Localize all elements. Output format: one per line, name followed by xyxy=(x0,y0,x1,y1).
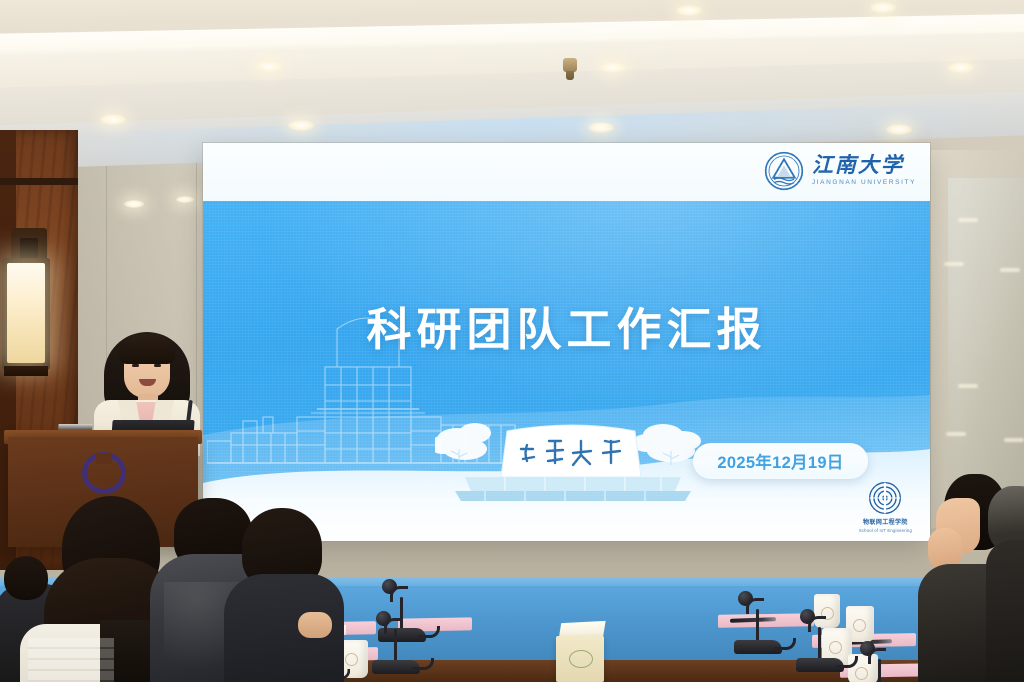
wall-glint xyxy=(1004,438,1024,442)
university-logo-names: 江南大学 JIANGNAN UNIVERSITY xyxy=(812,155,916,187)
projection-screen[interactable]: 科研团队工作汇报 2025年12月19日 江南大学 JIANGNAN UNIVE… xyxy=(203,143,930,541)
school-logo: 物联网工程学院 School of IoT Engineering xyxy=(859,481,912,533)
attendee-right-second xyxy=(986,486,1024,682)
tissue-box-icon xyxy=(556,636,604,682)
slide-title: 科研团队工作汇报 xyxy=(203,293,930,358)
wall-sconce-base xyxy=(4,366,48,376)
school-of-iot-engineering-emblem-icon xyxy=(868,481,902,515)
downlight-icon xyxy=(176,196,194,203)
presenter-eye xyxy=(132,364,139,367)
wall-glint xyxy=(946,432,966,436)
university-logo: 江南大学 JIANGNAN UNIVERSITY xyxy=(764,151,916,191)
downlight-icon xyxy=(124,200,144,208)
attendee-dark-coat xyxy=(224,508,344,682)
presenter-eye xyxy=(154,364,161,367)
downlight-icon xyxy=(600,62,626,73)
jiangnan-university-emblem-icon xyxy=(764,151,804,191)
school-name-en: School of IoT Engineering xyxy=(859,528,912,533)
wall-glint xyxy=(958,384,978,388)
downlight-icon xyxy=(100,114,126,125)
downlight-icon xyxy=(588,122,614,133)
school-name-cn: 物联网工程学院 xyxy=(863,517,908,526)
wood-panel-trim xyxy=(0,178,78,185)
wall-glint xyxy=(958,218,978,222)
downlight-icon xyxy=(886,124,912,135)
podium-circular-emblem-icon xyxy=(82,452,126,494)
wall-glint xyxy=(944,262,964,266)
presenter-fringe xyxy=(119,334,175,364)
downlight-icon xyxy=(256,61,282,72)
presentation-slide: 科研团队工作汇报 2025年12月19日 江南大学 JIANGNAN UNIVE… xyxy=(203,143,930,541)
slide-date-badge: 2025年12月19日 xyxy=(693,443,868,479)
gooseneck-microphone[interactable] xyxy=(372,612,438,674)
conference-room-scene: 科研团队工作汇报 2025年12月19日 江南大学 JIANGNAN UNIVE… xyxy=(0,0,1024,682)
downlight-icon xyxy=(870,2,896,13)
university-name-cn: 江南大学 xyxy=(812,155,916,176)
campus-gate-monument xyxy=(435,411,705,503)
wall-glint xyxy=(1000,268,1020,272)
downlight-icon xyxy=(676,5,702,16)
gooseneck-microphone[interactable] xyxy=(734,586,798,654)
gooseneck-microphone[interactable] xyxy=(856,648,922,682)
university-name-en: JIANGNAN UNIVERSITY xyxy=(812,180,916,187)
downlight-icon xyxy=(948,62,974,73)
fire-sprinkler-icon xyxy=(560,58,580,80)
slide-date-text: 2025年12月19日 xyxy=(717,449,843,473)
downlight-icon xyxy=(288,120,314,131)
gooseneck-microphone[interactable] xyxy=(796,606,860,672)
wall-sconce-lamp-icon xyxy=(7,263,45,363)
